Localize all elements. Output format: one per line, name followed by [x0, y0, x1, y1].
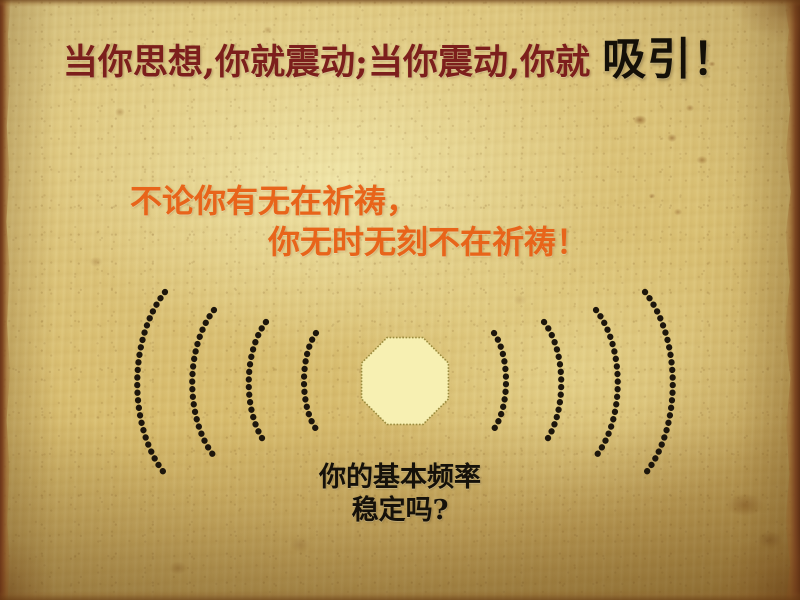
left-arc-4 [137, 292, 165, 474]
headline: 当你思想,你就震动;当你震动,你就吸引！ [0, 38, 800, 82]
headline-main-text: 当你思想,你就震动;当你震动,你就 [63, 42, 590, 83]
verse-line-1: 不论你有无在祈祷， [0, 184, 800, 219]
caption-line-2: 稳定吗? [0, 495, 800, 528]
wave-arcs-right-group [494, 292, 673, 474]
poster-canvas: 当你思想,你就震动;当你震动,你就吸引！ 不论你有无在祈祷， 你无时无刻不在祈祷… [0, 0, 800, 600]
right-arc-1 [494, 333, 506, 429]
left-arc-3 [192, 310, 214, 456]
caption-line-1: 你的基本频率 [0, 462, 800, 495]
parchment-bottom-edge [0, 591, 800, 600]
left-arc-2 [249, 322, 266, 444]
wave-arcs-left-group [137, 292, 316, 474]
parchment-top-edge [0, 0, 800, 7]
right-arc-4 [645, 292, 673, 474]
octagon-fill-shape [362, 338, 449, 425]
verse-line-2: 你无时无刻不在祈祷！ [0, 225, 800, 260]
headline-accent-text: 吸引！ [602, 34, 737, 85]
center-octagon [362, 338, 449, 425]
verse-block: 不论你有无在祈祷， 你无时无刻不在祈祷！ [0, 184, 800, 259]
right-arc-2 [544, 322, 561, 444]
octagon-dotted-outline [362, 338, 449, 425]
left-arc-1 [304, 333, 316, 429]
caption-block: 你的基本频率 稳定吗? [0, 462, 800, 528]
right-arc-3 [596, 310, 618, 456]
